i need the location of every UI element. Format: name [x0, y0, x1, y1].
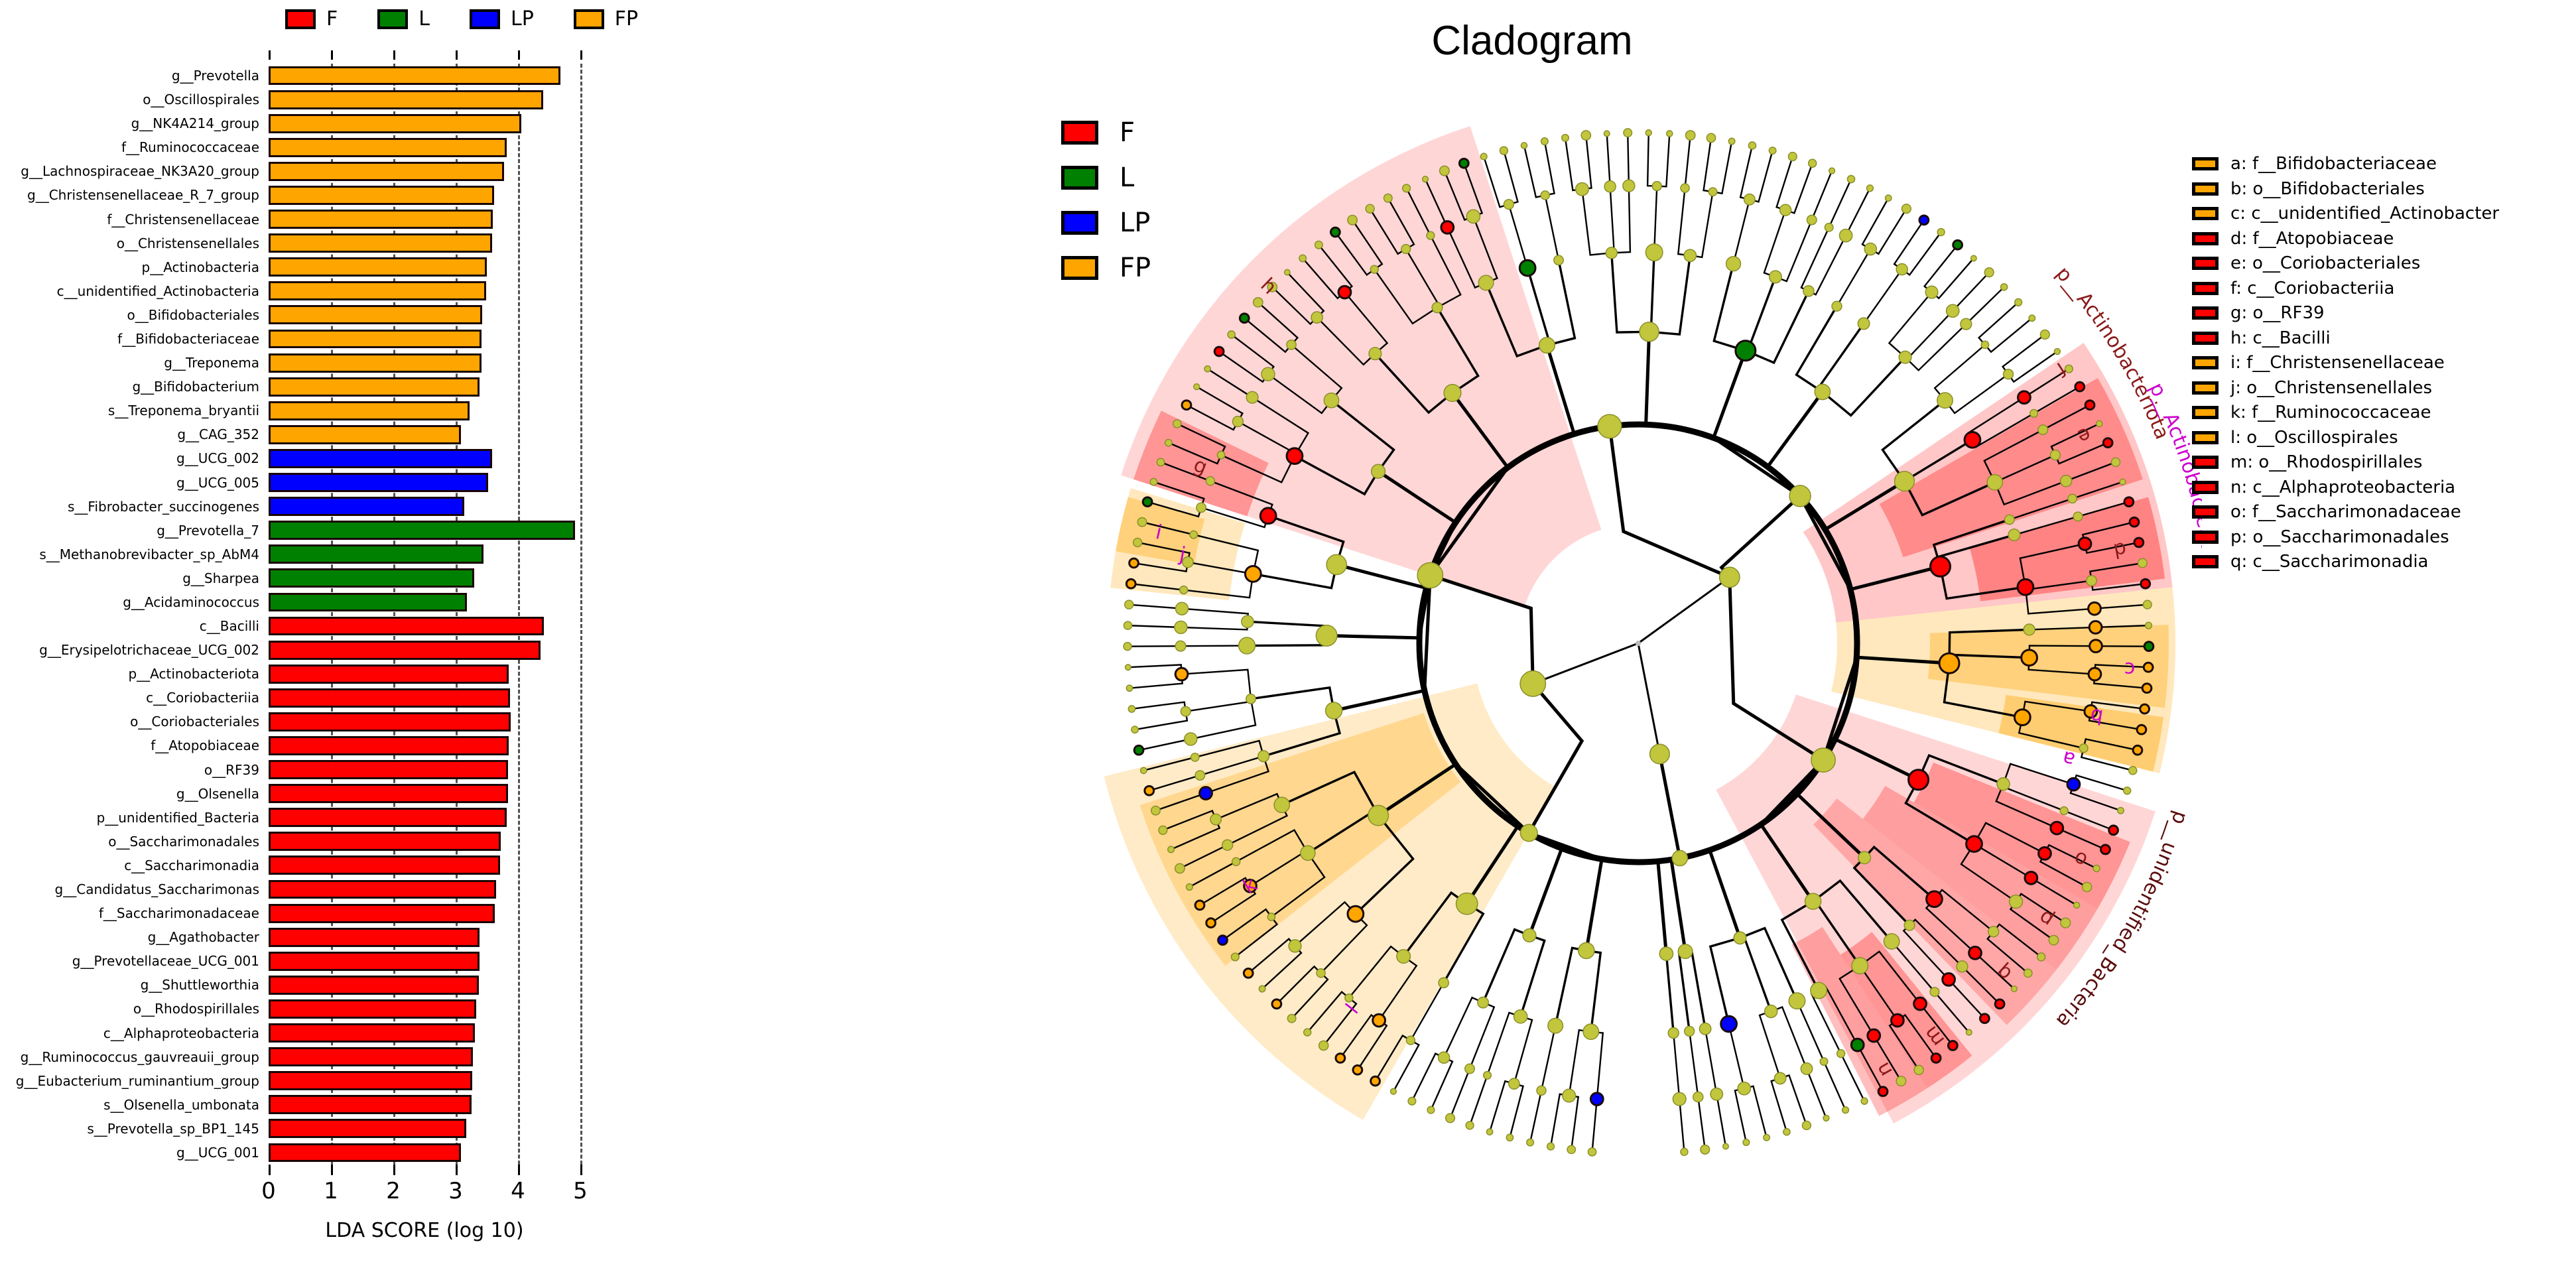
bar-L — [269, 568, 474, 588]
bar-L — [269, 544, 483, 564]
cladogram-branch — [1586, 950, 1600, 1031]
cladogram-branch — [1569, 1030, 1591, 1096]
lda-legend-swatch-LP — [470, 9, 500, 29]
bar-category-label: g__NK4A214_group — [131, 117, 259, 130]
cladogram-node — [2146, 622, 2152, 629]
cladogram-node — [2075, 382, 2085, 391]
cladogram-branch — [1771, 1078, 1787, 1132]
cladogram-node — [1439, 1052, 1450, 1063]
bar-F — [269, 712, 511, 731]
cladogram-branch — [1487, 1013, 1520, 1075]
top-axis-tick — [456, 50, 458, 60]
cladogram-node — [1311, 312, 1322, 323]
cladogram-node — [2141, 579, 2150, 588]
cladogram-node — [1261, 367, 1275, 381]
cladogram-branch — [1483, 929, 1529, 1002]
cladogram-branch — [1647, 133, 1657, 186]
cladogram-key-label: f: c__Coriobacteriia — [2230, 280, 2394, 297]
cladogram-node — [1957, 961, 1968, 972]
cladogram-node — [1858, 318, 1870, 330]
cladogram-key-swatch-c — [2192, 207, 2219, 220]
cladogram-node — [1126, 579, 1135, 588]
bar-category-label: g__Prevotella_7 — [157, 524, 259, 537]
bar-F — [269, 880, 496, 899]
cladogram-node — [1805, 893, 1821, 909]
cladogram-key-swatch-q — [2192, 555, 2219, 568]
bar-FP — [269, 377, 480, 397]
cladogram-branch — [1591, 1032, 1603, 1100]
cladogram-node — [2079, 744, 2088, 753]
cladogram-node — [1811, 982, 1827, 999]
cladogram-branch — [1490, 1081, 1514, 1132]
cladogram-node — [1686, 131, 1695, 140]
cladogram-node — [1723, 1143, 1729, 1149]
cladogram-node — [2060, 807, 2068, 815]
cladogram-node — [1125, 600, 1133, 609]
bar-category-label: g__Candidatus_Saccharimonas — [55, 883, 259, 896]
cladogram-branch — [1251, 688, 1334, 711]
cladogram-node — [1478, 275, 1494, 290]
bar-category-label: g__Shuttleworthia — [141, 978, 259, 991]
cladogram-node — [1373, 1014, 1385, 1027]
cladogram-branch — [1248, 621, 1327, 635]
cladogram-node — [1770, 271, 1782, 283]
cladogram-node — [1984, 268, 1994, 277]
cladogram-node — [1590, 1093, 1603, 1106]
cladogram-key-item-n: n: c__Alphaproteobacteria — [2192, 479, 2499, 496]
cladogram-node — [2025, 871, 2037, 884]
bar-row: f__Christensenellaceae — [269, 210, 580, 229]
cladogram-node — [2133, 745, 2142, 755]
cladogram-key-label: c: c__unidentified_Actinobacter — [2230, 205, 2499, 222]
cladogram-node — [1345, 994, 1353, 1002]
cladogram-key-swatch-h — [2192, 332, 2219, 345]
bar-FP — [269, 281, 486, 300]
cladogram-node — [1408, 1098, 1416, 1106]
cladogram-node — [1520, 824, 1537, 842]
cladogram-node — [1563, 1089, 1576, 1102]
bar-row: c__Bacilli — [269, 617, 580, 636]
x-axis-tick-label: 2 — [386, 1178, 401, 1204]
cladogram-branch — [1545, 141, 1555, 195]
cladogram-node — [1699, 1023, 1710, 1035]
cladogram-node — [1439, 978, 1449, 987]
cladogram-branch — [1685, 135, 1691, 188]
cladogram-node — [1165, 439, 1172, 446]
bar-row: f__Bifidobacteriaceae — [269, 330, 580, 349]
bar-row: g__Prevotella — [269, 66, 580, 86]
cladogram-node — [1128, 706, 1135, 712]
cladogram-node — [1851, 1039, 1864, 1051]
bar-category-label: g__Bifidobacterium — [132, 380, 259, 393]
bar-row: g__Agathobacter — [269, 928, 580, 947]
cladogram-node — [1667, 131, 1673, 137]
cladogram-key-item-a: a: f__Bifidobacteriaceae — [2192, 155, 2499, 172]
bar-FP — [269, 330, 482, 349]
cladogram-node — [2022, 650, 2037, 666]
cladogram-node — [1194, 384, 1200, 390]
bar-category-label: f__Christensenellaceae — [107, 213, 259, 226]
cladogram-branch — [1905, 324, 1966, 371]
cladogram-key-swatch-p — [2192, 531, 2219, 544]
cladogram-branch — [1127, 625, 1181, 627]
bar-category-label: s__Fibrobacter_succinogenes — [68, 500, 259, 513]
cladogram-node — [1728, 138, 1735, 145]
cladogram-node — [1523, 929, 1536, 942]
cladogram-node — [1427, 231, 1435, 239]
cladogram-key-label: b: o__Bifidobacteriales — [2230, 180, 2425, 198]
cladogram-node — [2089, 602, 2101, 615]
cladogram-node — [1896, 264, 1907, 275]
cladogram-node — [1802, 1121, 1811, 1129]
cladogram-node — [1966, 836, 1982, 852]
cladogram-node — [2008, 529, 2020, 541]
cladogram-node — [1191, 753, 1199, 761]
bar-category-label: g__Erysipelotrichaceae_UCG_002 — [39, 643, 259, 657]
bar-category-label: o__Saccharimonadales — [108, 835, 259, 848]
cladogram-node — [1195, 771, 1204, 780]
cladogram-branch — [1818, 324, 1864, 392]
cladogram-node — [1886, 195, 1892, 201]
cladogram-node — [1175, 621, 1187, 633]
bar-row: c__Coriobacteriia — [269, 688, 580, 708]
cladogram-branch — [1191, 699, 1256, 739]
cladogram-branch — [1131, 702, 1185, 712]
cladogram-key-item-b: b: o__Bifidobacteriales — [2192, 180, 2499, 198]
cladogram-node — [1743, 1139, 1750, 1146]
cladogram-node — [1931, 556, 1951, 576]
cladogram-node — [1948, 1041, 1957, 1050]
lda-legend-item-LP: LP — [470, 9, 534, 29]
cladogram-key-label: e: o__Coriobacteriales — [2230, 255, 2420, 272]
cladogram-node — [1456, 893, 1478, 914]
cladogram-node — [1554, 255, 1563, 265]
bar-F — [269, 641, 541, 660]
cladogram-key-item-d: d: f__Atopobiaceae — [2192, 230, 2499, 247]
cladogram-node — [1726, 257, 1741, 271]
cladogram-node — [1222, 840, 1233, 850]
cladogram-node — [1971, 255, 1976, 261]
cladogram-node — [1254, 298, 1263, 307]
cladogram-node — [1486, 1129, 1492, 1135]
cladogram-node — [1274, 797, 1289, 812]
cladogram-key-label: a: f__Bifidobacteriaceae — [2230, 155, 2437, 172]
cladogram-branch — [1824, 1062, 1845, 1110]
cladogram-branch — [1862, 198, 1888, 249]
cladogram-node — [2118, 807, 2124, 814]
cladogram-node — [2012, 986, 2018, 992]
cladogram-branch — [1182, 670, 1251, 699]
cladogram-node — [1604, 181, 1616, 192]
bar-category-label: s__Prevotella_sp_BP1_145 — [87, 1122, 259, 1135]
cladogram-node — [2038, 425, 2048, 435]
bar-row: c__Saccharimonadia — [269, 856, 580, 875]
cladogram-key-item-g: g: o__RF39 — [2192, 304, 2499, 322]
cladogram-node — [1478, 997, 1488, 1007]
cladogram-branch — [1777, 157, 1793, 210]
cladogram-node — [1157, 458, 1164, 466]
cladogram-node — [1348, 906, 1364, 922]
bar-row: s__Methanobrevibacter_sp_AbM4 — [269, 544, 580, 564]
cladogram-key-label: d: f__Atopobiaceae — [2230, 230, 2394, 247]
cladogram-branch — [1569, 1096, 1578, 1149]
cladogram-node — [1902, 204, 1911, 214]
cladogram-key-swatch-b — [2192, 182, 2219, 196]
cladogram-node — [2143, 600, 2152, 609]
cladogram-node — [1180, 586, 1188, 594]
bar-category-label: p__Actinobacteria — [142, 261, 259, 274]
cladogram-node — [1837, 1050, 1845, 1058]
cladogram-key-swatch-l — [2192, 431, 2219, 444]
cladogram-node — [1423, 176, 1429, 182]
cladogram-branch — [1979, 302, 2019, 345]
bar-FP — [269, 186, 494, 205]
cladogram-node — [1708, 188, 1716, 196]
cladogram-branch — [1247, 635, 1326, 645]
cladogram-node — [1353, 1065, 1362, 1074]
cladogram-key-item-f: f: c__Coriobacteriia — [2192, 280, 2499, 297]
cladogram-node — [1200, 787, 1212, 800]
cladogram-node — [1909, 770, 1929, 790]
cladogram-node — [1369, 348, 1382, 360]
cladogram-node — [2138, 558, 2147, 567]
cladogram-node — [1829, 168, 1835, 174]
bar-row: s__Olsenella_umbonata — [269, 1095, 580, 1114]
bar-row: g__Bifidobacterium — [269, 377, 580, 397]
cladogram-branch — [1775, 220, 1812, 282]
cladogram-branch — [1925, 245, 1958, 292]
cladogram-node — [1811, 748, 1835, 772]
cladogram-branch — [1680, 850, 1740, 938]
cladogram-node — [1366, 204, 1374, 213]
cladogram-key-swatch-f — [2192, 282, 2219, 295]
cladogram-key-label: l: o__Oscillospirales — [2230, 429, 2398, 446]
cladogram-key-item-l: l: o__Oscillospirales — [2192, 429, 2499, 446]
bar-LP — [269, 473, 488, 492]
cladogram-node — [2089, 668, 2101, 680]
cladogram-node — [1606, 247, 1617, 259]
cladogram-node — [1131, 726, 1138, 733]
cladogram-node — [2089, 621, 2102, 634]
bar-FP — [269, 66, 560, 86]
cladogram-node — [1678, 944, 1693, 959]
cladogram-node — [1330, 227, 1340, 237]
cladogram-key-item-j: j: o__Christensenellales — [2192, 379, 2499, 397]
cladogram-node — [1267, 913, 1275, 921]
cladogram-node — [1685, 1026, 1695, 1036]
cladogram-branch — [1533, 643, 1638, 684]
cladogram-key-swatch-g — [2192, 306, 2219, 320]
cladogram-node — [1466, 210, 1480, 223]
cladogram-branch — [1658, 858, 1680, 954]
cladogram-branch — [1750, 151, 1773, 202]
cladogram-node — [1206, 919, 1216, 928]
cladogram-node — [1925, 286, 1938, 298]
cladogram-branch — [1524, 145, 1545, 197]
bar-category-label: g__Olsenella — [176, 787, 259, 800]
bar-category-label: g__Ruminococcus_gauvreauii_group — [21, 1050, 259, 1064]
cladogram-sector-letter-c: c — [2124, 657, 2136, 681]
cladogram-node — [1159, 826, 1167, 834]
cladogram-node — [1537, 1086, 1546, 1095]
cladogram-node — [2037, 953, 2045, 961]
cladogram-node — [1186, 884, 1192, 891]
cladogram-node — [1466, 1121, 1474, 1129]
cladogram-node — [1744, 194, 1756, 205]
bar-FP — [269, 305, 482, 324]
cladogram-node — [1997, 778, 2010, 791]
cladogram-node — [1780, 204, 1791, 216]
cladogram-node — [1317, 969, 1325, 978]
cladogram-key-item-c: c: c__unidentified_Actinobacter — [2192, 205, 2499, 222]
cladogram-branch — [1829, 179, 1851, 227]
cladogram-node — [1301, 846, 1315, 860]
cladogram-node — [2029, 315, 2035, 321]
cladogram-node — [1407, 1036, 1415, 1045]
cladogram-node — [1326, 702, 1342, 719]
cladogram-node — [1134, 745, 1143, 755]
cladogram-node — [1801, 1063, 1812, 1074]
cladogram-key-item-e: e: o__Coriobacteriales — [2192, 255, 2499, 272]
bar-F — [269, 976, 479, 995]
cladogram-node — [1710, 1088, 1722, 1100]
cladogram-node — [1173, 420, 1181, 428]
bar-row: p__Actinobacteria — [269, 257, 580, 277]
cladogram-node — [2134, 538, 2144, 547]
cladogram-branch — [1735, 1088, 1746, 1142]
cladogram-branch — [1638, 577, 1730, 643]
bar-row: g__UCG_005 — [269, 473, 580, 492]
cladogram-node — [1541, 191, 1549, 200]
cladogram-node — [1446, 1113, 1455, 1123]
bar-row: g__Erysipelotrichaceae_UCG_002 — [269, 641, 580, 660]
x-axis-tick — [518, 1165, 520, 1175]
cladogram-branch — [1135, 712, 1187, 730]
bar-row: s__Prevotella_sp_BP1_145 — [269, 1119, 580, 1138]
cladogram-node — [1578, 942, 1594, 958]
cladogram-node — [1504, 200, 1513, 210]
cladogram-node — [2137, 725, 2146, 734]
bar-category-label: c__unidentified_Actinobacteria — [57, 285, 259, 298]
cladogram-node — [2024, 969, 2032, 977]
cladogram-node — [1624, 129, 1632, 137]
cladogram-node — [1338, 286, 1351, 298]
cladogram-key-swatch-e — [2192, 257, 2219, 270]
bar-F — [269, 617, 544, 636]
bar-row: g__CAG_352 — [269, 425, 580, 444]
cladogram-node — [2101, 845, 2110, 854]
cladogram-node — [1246, 391, 1258, 403]
cladogram-node — [1444, 385, 1461, 402]
cladogram-node — [2061, 476, 2072, 487]
cladogram-node — [1196, 503, 1206, 512]
cladogram-node — [1988, 926, 1999, 937]
bar-row: g__Eubacterium_ruminantium_group — [269, 1071, 580, 1090]
lda-bar-chart-panel: FLLPFP g__Prevotellao__Oscillospiralesg_… — [0, 0, 875, 1270]
bar-category-label: f__Saccharimonadaceae — [99, 907, 259, 920]
cladogram-node — [2124, 497, 2134, 507]
cladogram-node — [1931, 1054, 1941, 1063]
x-axis-tick-label: 3 — [448, 1178, 463, 1204]
cladogram-branch — [1654, 186, 1657, 253]
cladogram-node — [1598, 414, 1622, 438]
cladogram-branch — [1128, 665, 1182, 674]
bar-F — [269, 1023, 475, 1043]
cladogram-branch — [1985, 318, 2032, 352]
cladogram-node — [1287, 340, 1296, 349]
cladogram-node — [1287, 448, 1303, 464]
cladogram-node — [2079, 538, 2091, 550]
cladogram-key-label: m: o__Rhodospirillales — [2230, 454, 2422, 471]
cladogram-branch — [1760, 1011, 1780, 1078]
bar-row: g__Lachnospiraceae_NK3A20_group — [269, 162, 580, 181]
bar-F — [269, 688, 510, 708]
cladogram-node — [1939, 653, 1959, 673]
cladogram-node — [1774, 1072, 1785, 1084]
cladogram-node — [1242, 615, 1254, 627]
cladogram-branch — [1607, 133, 1610, 186]
cladogram-branch — [1521, 935, 1545, 1016]
cladogram-branch — [1846, 188, 1870, 235]
cladogram-key-swatch-j — [2192, 381, 2219, 395]
cladogram-node — [1604, 131, 1610, 137]
bar-row: p__unidentified_Bacteria — [269, 808, 580, 827]
bar-row: f__Atopobiaceae — [269, 736, 580, 755]
cladogram-node — [1440, 166, 1450, 176]
cladogram-key-label: n: c__Alphaproteobacteria — [2230, 479, 2455, 496]
bar-FP — [269, 162, 504, 181]
bar-F — [269, 1095, 472, 1114]
bar-category-label: p__unidentified_Bacteria — [97, 811, 259, 824]
cladogram-panel: Cladogram FLLPFP hgjiefdcbaopqmnlk p__Ac… — [875, 0, 2576, 1270]
cladogram-branch — [1253, 564, 1336, 588]
cladogram-node — [1878, 1087, 1888, 1096]
cladogram-branch — [1510, 1084, 1523, 1137]
cladogram-branch — [1678, 188, 1690, 256]
bar-category-label: g__Sharpea — [182, 572, 259, 585]
cladogram-node — [1484, 1072, 1492, 1080]
cladogram-node — [1465, 1064, 1474, 1073]
cladogram-node — [1459, 159, 1468, 168]
cladogram-branch — [1764, 210, 1785, 277]
cladogram-branch — [1679, 952, 1690, 1031]
bar-FP — [269, 210, 493, 229]
cladogram-node — [2005, 515, 2014, 524]
cladogram-branch — [1807, 1069, 1826, 1118]
cladogram-node — [1371, 1076, 1380, 1086]
cladogram-node — [1232, 953, 1240, 961]
lda-legend-label: L — [419, 9, 430, 29]
cladogram-key-label: p: o__Saccharimonadales — [2230, 529, 2449, 546]
cladogram-node — [2085, 401, 2094, 410]
cladogram-branch — [1139, 739, 1191, 750]
cladogram-node — [1896, 1076, 1906, 1086]
cladogram-key-item-m: m: o__Rhodospirillales — [2192, 454, 2499, 471]
cladogram-branch — [1714, 264, 1746, 351]
cladogram-branch — [1716, 1094, 1726, 1147]
cladogram-node — [2004, 369, 2014, 379]
cladogram-node — [2087, 576, 2096, 586]
cladogram-branch — [1812, 171, 1832, 220]
cladogram-node — [1432, 302, 1443, 313]
cladogram-title: Cladogram — [875, 17, 2189, 64]
lda-legend-label: LP — [511, 9, 534, 29]
cladogram-node — [1150, 478, 1157, 485]
cladogram-node — [1899, 351, 1911, 363]
bar-FP — [269, 90, 543, 109]
cladogram-node — [1947, 304, 1959, 317]
bar-row: s__Fibrobacter_succinogenes — [269, 497, 580, 516]
